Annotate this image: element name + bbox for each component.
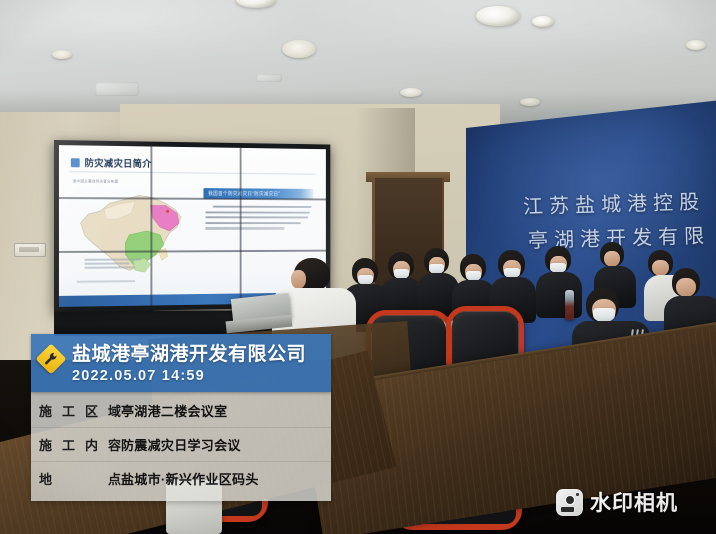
smoke-detector-icon xyxy=(520,98,540,106)
watermark-company-name: 盐城港亭湖港开发有限公司 xyxy=(72,339,306,366)
attendee-face xyxy=(676,278,696,297)
camera-lens xyxy=(564,494,576,506)
water-bottle xyxy=(565,290,574,320)
ceiling-downlight xyxy=(236,0,276,8)
watermark-datetime: 2022.05.07 14:59 xyxy=(72,368,205,384)
label-char: 工 xyxy=(62,401,75,420)
attendee-body xyxy=(536,272,582,318)
watermark-value-content: 防震减灾日学习会议 xyxy=(121,435,241,454)
watermark-label-area: 施 工 区 域 xyxy=(39,401,121,420)
watermark-value-location: 盐城市·新兴作业区码头 xyxy=(121,469,259,488)
watermark-row-location: 地 点 盐城市·新兴作业区码头 xyxy=(31,462,331,495)
attendee-face xyxy=(604,251,620,267)
label-char: 内 xyxy=(85,435,98,454)
label-char: 容 xyxy=(108,435,121,454)
watermark-details: 施 工 区 域 亭湖港二楼会议室 施 工 内 容 防震减灾日学习会议 地 xyxy=(31,392,331,501)
watermark-label-content: 施 工 内 容 xyxy=(39,435,121,454)
label-char: 区 xyxy=(85,401,98,420)
slide-bullet-icon xyxy=(71,158,80,167)
face-mask xyxy=(593,308,615,322)
camera-flash xyxy=(576,493,580,497)
label-char: 施 xyxy=(39,435,52,454)
watermark-row-content: 施 工 内 容 防震减灾日学习会议 xyxy=(31,428,331,462)
wall-banner-line-1: 江苏盐城港控股 xyxy=(523,185,706,219)
smoke-detector-icon xyxy=(400,88,422,97)
watermark-header: 盐城港亭湖港开发有限公司 2022.05.07 14:59 xyxy=(31,334,331,392)
smoke-detector-icon xyxy=(282,40,316,58)
smoke-detector-icon xyxy=(686,40,706,50)
label-char: 工 xyxy=(62,435,75,454)
video-wall-seam xyxy=(150,146,151,305)
camera-icon xyxy=(556,489,583,516)
video-wall-seam xyxy=(59,250,326,253)
label-char: 施 xyxy=(39,401,52,420)
slide-divider xyxy=(69,171,315,175)
slide-footnote xyxy=(77,280,135,283)
app-watermark: 水印相机 xyxy=(556,487,678,517)
video-wall-seam xyxy=(240,148,241,304)
watermark-value-area: 亭湖港二楼会议室 xyxy=(121,401,227,420)
slide-section-banner-text: 我国首个防灾减灾日“防灾减灾日” xyxy=(208,190,280,197)
slide-title: 防灾减灾日简介 xyxy=(85,155,152,170)
light-switch-plate[interactable] xyxy=(14,243,46,257)
presentation-slide: 防灾减灾日简介 我中国主要自然灾害分布图 我 xyxy=(59,145,326,307)
ceiling-vent xyxy=(256,74,282,82)
screenshot-root: 江苏盐城港控股 亭湖港开发有限 防灾减灾日简介 我中国主要自然灾害分布图 xyxy=(0,0,716,534)
slide-body-text-block xyxy=(205,206,311,233)
label-char: 点 xyxy=(108,469,121,488)
app-watermark-name: 水印相机 xyxy=(590,487,678,517)
wrench-icon xyxy=(35,343,66,374)
ceiling-vent xyxy=(95,82,139,96)
video-wall[interactable]: 防灾减灾日简介 我中国主要自然灾害分布图 我 xyxy=(54,140,330,312)
ceiling-downlight xyxy=(532,16,554,27)
label-char: 域 xyxy=(108,401,121,420)
presenter-face xyxy=(291,270,306,289)
label-char: 地 xyxy=(39,469,52,488)
slide-map-label: 我中国主要自然灾害分布图 xyxy=(73,179,119,184)
watermark-card: 盐城港亭湖港开发有限公司 2022.05.07 14:59 施 工 区 域 亭湖… xyxy=(31,334,331,501)
smoke-detector-icon xyxy=(52,50,72,59)
camera-strip xyxy=(561,507,574,512)
attendee-face xyxy=(652,260,669,276)
watermark-row-area: 施 工 区 域 亭湖港二楼会议室 xyxy=(31,394,331,428)
watermark-label-location: 地 点 xyxy=(39,469,121,488)
slide-map-legend xyxy=(85,256,153,270)
ceiling-downlight xyxy=(476,6,520,26)
slide-title-bar: 防灾减灾日简介 xyxy=(71,155,152,170)
